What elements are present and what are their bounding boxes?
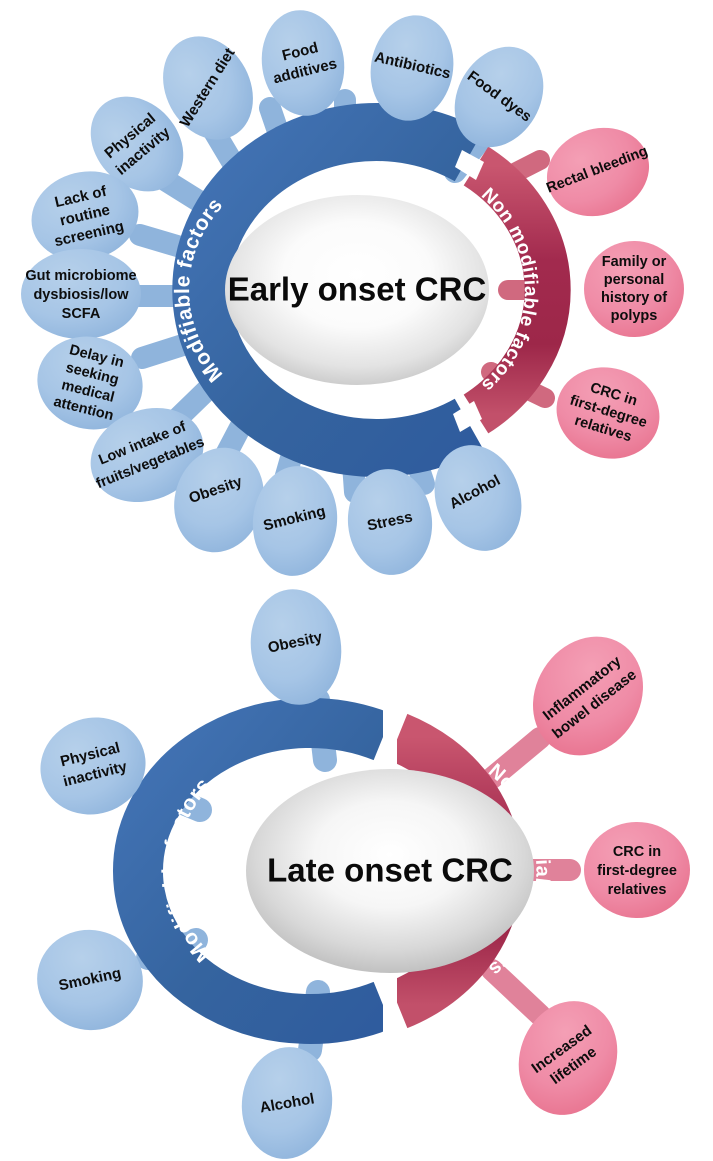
node-crc-first-degree-relatives[interactable]: CRC in first-degree relatives: [584, 822, 690, 918]
early-onset-diagram: Early onset CRC Modifiable factors Non m…: [0, 0, 713, 580]
node-family-history-polyps[interactable]: Family or personal history of polyps: [584, 241, 684, 337]
late-onset-diagram: Late onset CRC Modifiable factors Non mo…: [0, 580, 713, 1161]
early-center-title: Early onset CRC: [228, 271, 487, 308]
late-center-title: Late onset CRC: [267, 852, 513, 889]
node-gut-microbiome[interactable]: Gut microbiome dysbiosis/low SCFA: [21, 249, 141, 339]
